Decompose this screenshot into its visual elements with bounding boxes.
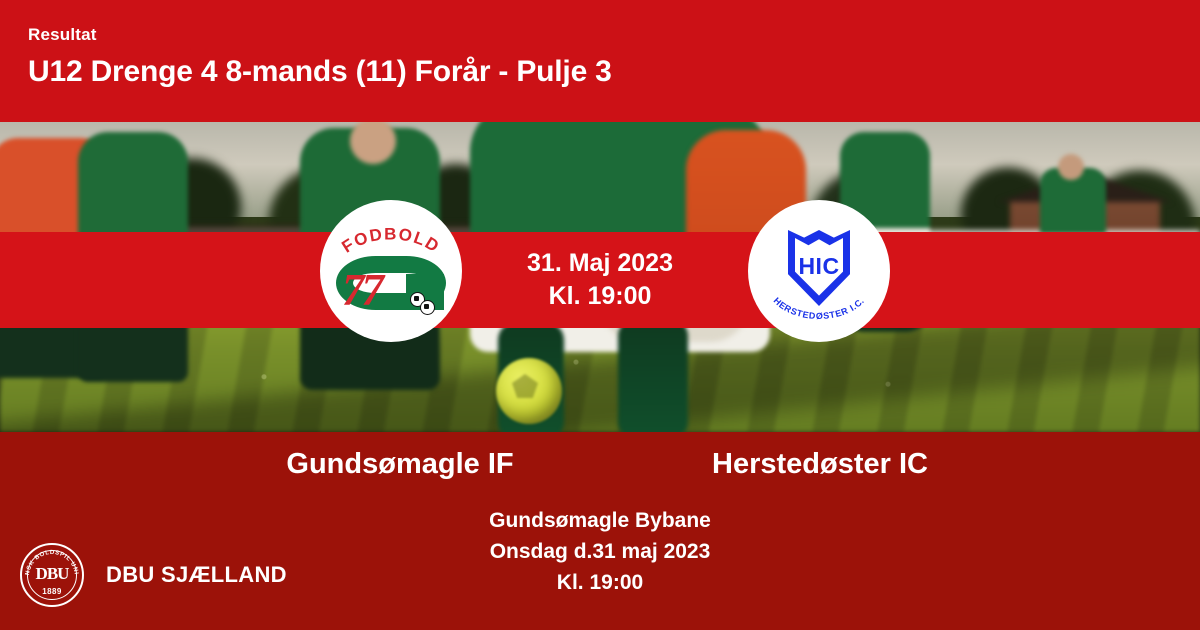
match-time: Kl. 19:00 <box>549 280 652 313</box>
away-team-name: Herstedøster IC <box>620 443 1020 485</box>
svg-text:FODBOLD: FODBOLD <box>338 228 443 257</box>
page-title: U12 Drenge 4 8-mands (11) Forår - Pulje … <box>28 52 1200 92</box>
away-team-logo: HIC HERSTEDØSTER I.C. <box>748 200 890 342</box>
venue-date: Onsdag d.31 maj 2023 <box>400 536 800 567</box>
match-datetime: 31. Maj 2023 Kl. 19:00 <box>460 232 740 328</box>
match-result-poster: Resultat U12 Drenge 4 8-mands (11) Forår… <box>0 0 1200 630</box>
venue-time: Kl. 19:00 <box>400 567 800 598</box>
dbu-emblem-icon: DANSK BOLDSPIL UNION DBU 1889 <box>20 543 84 607</box>
match-date: 31. Maj 2023 <box>527 247 673 280</box>
dbu-emblem-monogram: DBU <box>22 565 82 583</box>
home-team-name: Gundsømagle IF <box>200 443 600 485</box>
poster-header: Resultat U12 Drenge 4 8-mands (11) Forår… <box>0 0 1200 122</box>
home-team-logo: FODBOLD 77 <box>320 200 462 342</box>
svg-text:HERSTEDØSTER I.C.: HERSTEDØSTER I.C. <box>772 296 867 321</box>
photo-player-foreground-leg-right <box>618 318 688 432</box>
dbu-emblem-year: 1889 <box>22 587 82 596</box>
team-names-row: Gundsømagle IF Herstedøster IC <box>0 443 1200 485</box>
away-logo-arc-label: HERSTEDØSTER I.C. <box>772 296 867 321</box>
home-logo-arc-label: FODBOLD <box>338 228 443 257</box>
venue-block: Gundsømagle Bybane Onsdag d.31 maj 2023 … <box>400 505 800 598</box>
venue-name: Gundsømagle Bybane <box>400 505 800 536</box>
photo-player-far-right-head <box>1058 154 1084 180</box>
footer-org-name: DBU SJÆLLAND <box>106 562 287 588</box>
football-icon <box>496 358 562 424</box>
away-logo-initials: HIC <box>788 252 850 280</box>
away-logo-arc-text-icon: HERSTEDØSTER I.C. <box>748 296 890 332</box>
footer: DANSK BOLDSPIL UNION DBU 1889 DBU SJÆLLA… <box>20 540 340 610</box>
home-logo-ball-icon-2 <box>420 300 435 315</box>
header-kicker: Resultat <box>28 24 1200 46</box>
